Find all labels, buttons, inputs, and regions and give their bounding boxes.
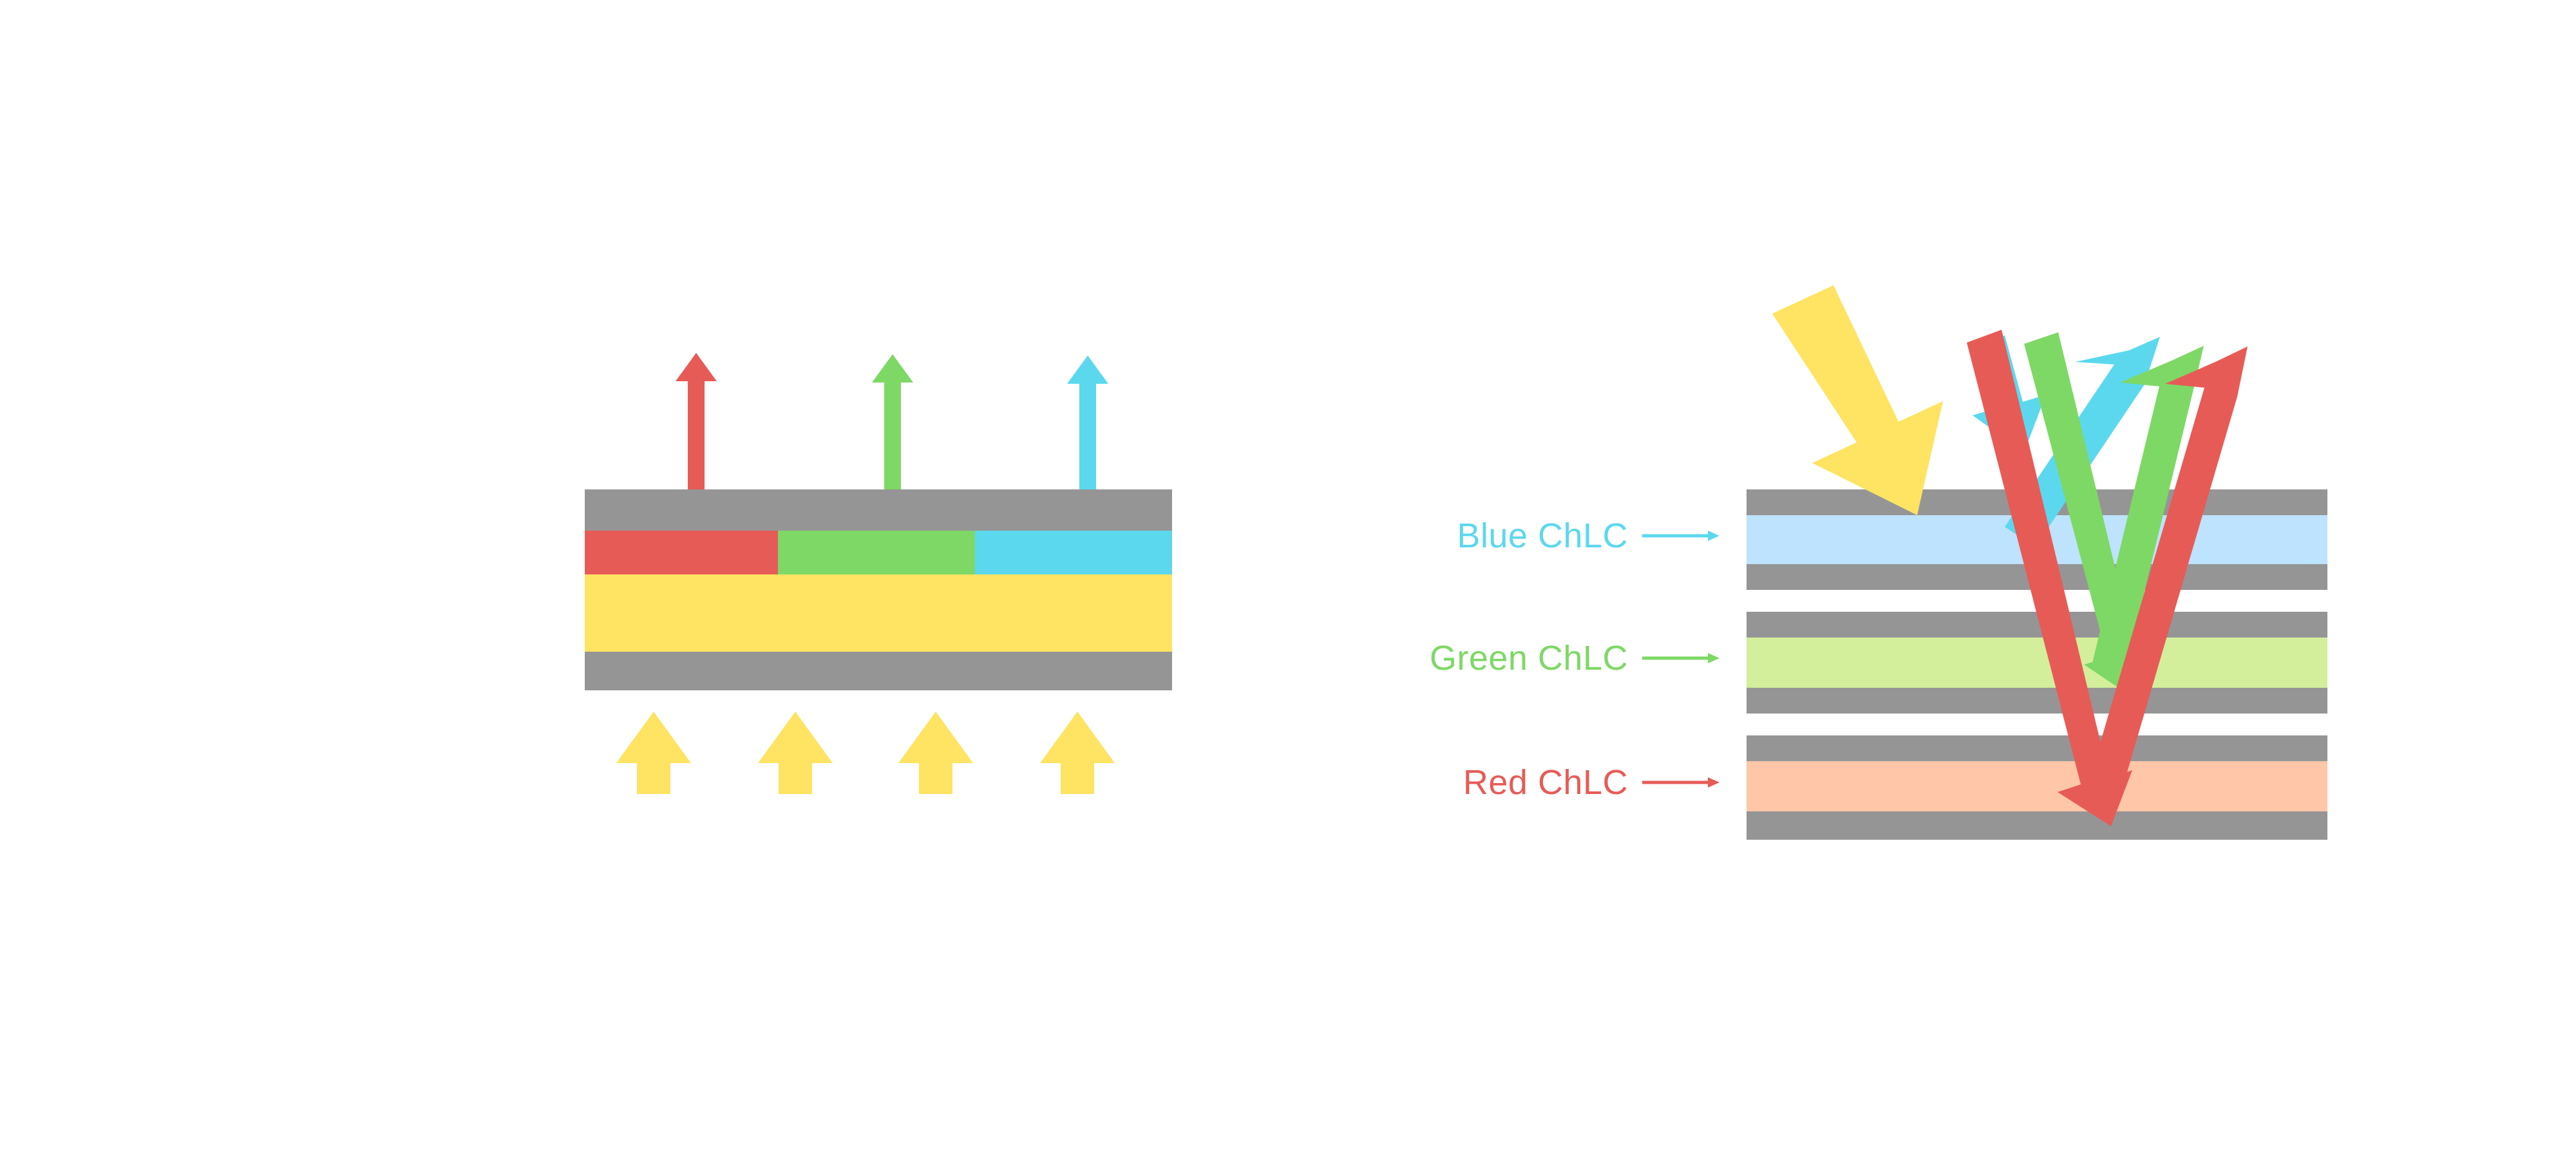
emitted-green-ray	[864, 354, 922, 493]
label-green-chlc: Green ChLC	[1327, 641, 1719, 676]
arrow-right-icon-red	[1642, 773, 1719, 792]
backlight-ray-2	[757, 712, 834, 794]
arrow-right-icon-green	[1642, 648, 1719, 668]
right-layer-gap-blue-green	[1747, 590, 2327, 612]
right-panel-reflective-chlc-stack: Blue ChLC Green ChLC Red ChLC	[1288, 0, 2576, 1154]
label-red-chlc: Red ChLC	[1365, 765, 1719, 800]
left-layer-bottom-electrode	[585, 652, 1172, 690]
right-layer-red-chlc	[1747, 761, 2327, 811]
right-layer-substrate-red-top	[1747, 735, 2327, 761]
backlight-ray-1-shaft	[637, 762, 670, 794]
right-layer-green-chlc	[1747, 638, 2327, 688]
backlight-ray-2-shaft	[779, 762, 812, 794]
backlight-ray-4-shaft	[1061, 762, 1094, 794]
left-panel-transmissive-stack	[0, 0, 1288, 1154]
label-blue-chlc-text: Blue ChLC	[1457, 518, 1628, 553]
ambient-light-ray	[1772, 285, 1943, 515]
left-layer-color-filter-row	[585, 531, 1172, 574]
right-layer-blue-chlc	[1747, 515, 2327, 564]
right-layer-substrate-top	[1747, 489, 2327, 515]
emitted-red-ray	[667, 353, 725, 493]
right-layer-substrate-green-bot	[1747, 688, 2327, 714]
arrow-right-icon-blue	[1642, 526, 1719, 545]
label-green-chlc-text: Green ChLC	[1430, 641, 1628, 676]
right-layer-gap-green-red	[1747, 714, 2327, 735]
left-blue-filter-segment	[975, 531, 1172, 574]
emitted-red-ray-shaft	[688, 377, 705, 493]
label-blue-chlc: Blue ChLC	[1352, 518, 1719, 553]
emitted-cyan-ray	[1059, 355, 1117, 493]
right-layer-substrate-green-top	[1747, 612, 2327, 638]
backlight-ray-4	[1039, 712, 1116, 794]
backlight-ray-4-head	[1040, 712, 1115, 763]
left-layer-top-electrode	[585, 489, 1172, 531]
blue-incident-ray	[1973, 336, 2046, 452]
right-layer-substrate-bottom	[1747, 811, 2327, 840]
emitted-cyan-ray-shaft	[1079, 380, 1096, 493]
backlight-ray-3	[897, 712, 974, 794]
backlight-ray-1	[615, 712, 692, 794]
backlight-ray-3-head	[898, 712, 973, 763]
left-layer-backlight	[585, 574, 1172, 652]
emitted-green-ray-shaft	[884, 379, 901, 493]
diagram-canvas: Blue ChLC Green ChLC Red ChLC	[0, 0, 2576, 1154]
right-layer-substrate-blue-bot	[1747, 564, 2327, 590]
backlight-ray-3-shaft	[919, 762, 952, 794]
backlight-ray-2-head	[758, 712, 833, 763]
left-red-filter-segment	[585, 531, 778, 574]
label-red-chlc-text: Red ChLC	[1463, 765, 1628, 800]
backlight-ray-1-head	[616, 712, 691, 763]
left-green-filter-segment	[778, 531, 975, 574]
